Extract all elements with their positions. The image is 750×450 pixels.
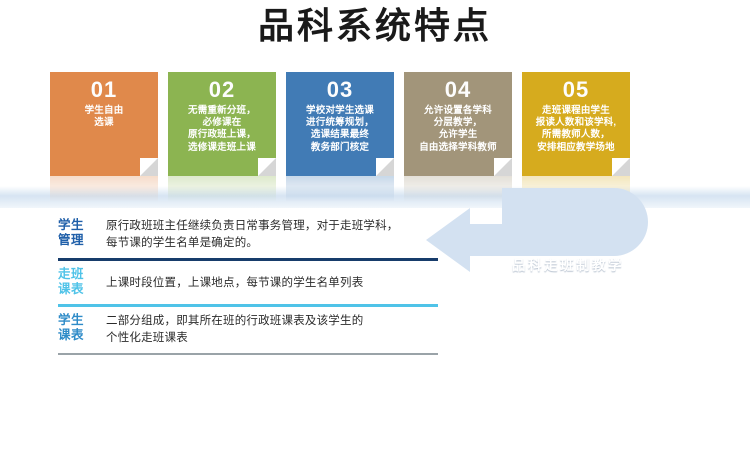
feature-card-line: 分层教学， <box>407 117 509 129</box>
page-title: 品科系统特点 <box>0 2 750 50</box>
feature-card-04[interactable]: 04 允许设置各学科 分层教学， 允许学生 自由选择学科教师 <box>404 72 512 190</box>
feature-card-line: 允许设置各学科 <box>407 105 509 117</box>
feature-card-text: 走班课程由学生 报读人数和该学科, 所需教师人数， 安排相应教学场地 <box>522 105 630 154</box>
feature-card-line: 必修课在 <box>171 117 273 129</box>
row-label-line: 走班 <box>58 267 106 282</box>
row-label-line: 课表 <box>58 282 106 297</box>
feature-card-02[interactable]: 02 无需重新分班， 必修课在 原行政班上课， 选修课走班上课 <box>168 72 276 190</box>
row-label-line: 学生 <box>58 218 106 233</box>
feature-card-line: 自由选择学科教师 <box>407 142 509 154</box>
feature-card-line: 选课 <box>53 117 155 129</box>
row-body: 二部分组成，即其所在班的行政班课表及该学生的 个性化走班课表 <box>106 313 438 346</box>
feature-card-line: 所需教师人数， <box>525 129 627 141</box>
feature-card-01[interactable]: 01 学生自由 选课 <box>50 72 158 190</box>
row-body: 上课时段位置，上课地点，每节课的学生名单列表 <box>106 267 438 292</box>
feature-card-body: 05 走班课程由学生 报读人数和该学科, 所需教师人数， 安排相应教学场地 <box>522 72 630 176</box>
row-label: 学生 课表 <box>58 313 106 343</box>
row-label-line: 课表 <box>58 328 106 343</box>
feature-card-03[interactable]: 03 学校对学生选课 进行统筹规划， 选课结果最终 教务部门核定 <box>286 72 394 190</box>
feature-card-line: 教务部门核定 <box>289 142 391 154</box>
row-label-line: 学生 <box>58 313 106 328</box>
feature-card-body: 04 允许设置各学科 分层教学， 允许学生 自由选择学科教师 <box>404 72 512 176</box>
row-label: 走班 课表 <box>58 267 106 297</box>
folded-corner-icon <box>140 158 158 176</box>
feature-card-line: 进行统筹规划， <box>289 117 391 129</box>
feature-card-line: 报读人数和该学科, <box>525 117 627 129</box>
feature-card-line: 选修课走班上课 <box>171 142 273 154</box>
feature-card-number: 02 <box>168 78 276 102</box>
folded-corner-icon <box>612 158 630 176</box>
feature-card-05[interactable]: 05 走班课程由学生 报读人数和该学科, 所需教师人数， 安排相应教学场地 <box>522 72 630 190</box>
feature-card-line: 安排相应教学场地 <box>525 142 627 154</box>
detail-table: 学生 管理 原行政班班主任继续负责日常事务管理，对于走班学科， 每节课的学生名单… <box>58 212 438 355</box>
feature-card-line: 选课结果最终 <box>289 129 391 141</box>
table-row[interactable]: 走班 课表 上课时段位置，上课地点，每节课的学生名单列表 <box>58 261 438 304</box>
feature-card-body: 02 无需重新分班， 必修课在 原行政班上课， 选修课走班上课 <box>168 72 276 176</box>
card-reflection <box>168 176 276 202</box>
row-body-line: 二部分组成，即其所在班的行政班课表及该学生的 <box>106 313 438 330</box>
feature-card-text: 学校对学生选课 进行统筹规划， 选课结果最终 教务部门核定 <box>286 105 394 154</box>
feature-card-strip: 01 学生自由 选课 02 无需重新分班， 必修课在 原行政班上课， 选修课走班… <box>50 72 650 192</box>
feature-card-text: 允许设置各学科 分层教学， 允许学生 自由选择学科教师 <box>404 105 512 154</box>
row-label-line: 管理 <box>58 233 106 248</box>
table-row[interactable]: 学生 课表 二部分组成，即其所在班的行政班课表及该学生的 个性化走班课表 <box>58 307 438 353</box>
table-row[interactable]: 学生 管理 原行政班班主任继续负责日常事务管理，对于走班学科， 每节课的学生名单… <box>58 212 438 258</box>
feature-card-line: 走班课程由学生 <box>525 105 627 117</box>
folded-corner-icon <box>376 158 394 176</box>
row-body-line: 上课时段位置，上课地点，每节课的学生名单列表 <box>106 275 438 292</box>
feature-card-line: 无需重新分班， <box>171 105 273 117</box>
row-body-line: 原行政班班主任继续负责日常事务管理，对于走班学科， <box>106 218 438 235</box>
folded-corner-icon <box>258 158 276 176</box>
feature-card-number: 03 <box>286 78 394 102</box>
feature-card-line: 学生自由 <box>53 105 155 117</box>
card-reflection <box>286 176 394 202</box>
row-body-line: 个性化走班课表 <box>106 330 438 347</box>
feature-card-text: 无需重新分班， 必修课在 原行政班上课， 选修课走班上课 <box>168 105 276 154</box>
feature-card-number: 04 <box>404 78 512 102</box>
row-body-line: 每节课的学生名单是确定的。 <box>106 235 438 252</box>
feature-card-line: 允许学生 <box>407 129 509 141</box>
curved-left-arrow-icon <box>418 178 698 298</box>
row-divider <box>58 353 438 355</box>
feature-card-text: 学生自由 选课 <box>50 105 158 129</box>
feature-card-body: 01 学生自由 选课 <box>50 72 158 176</box>
feature-card-body: 03 学校对学生选课 进行统筹规划， 选课结果最终 教务部门核定 <box>286 72 394 176</box>
row-body: 原行政班班主任继续负责日常事务管理，对于走班学科， 每节课的学生名单是确定的。 <box>106 218 438 251</box>
feature-card-line: 学校对学生选课 <box>289 105 391 117</box>
arrow-label: 品科走班制教学 <box>478 254 658 274</box>
row-label: 学生 管理 <box>58 218 106 248</box>
feature-card-number: 01 <box>50 78 158 102</box>
feature-card-number: 05 <box>522 78 630 102</box>
feature-card-line: 原行政班上课， <box>171 129 273 141</box>
card-reflection <box>50 176 158 202</box>
folded-corner-icon <box>494 158 512 176</box>
